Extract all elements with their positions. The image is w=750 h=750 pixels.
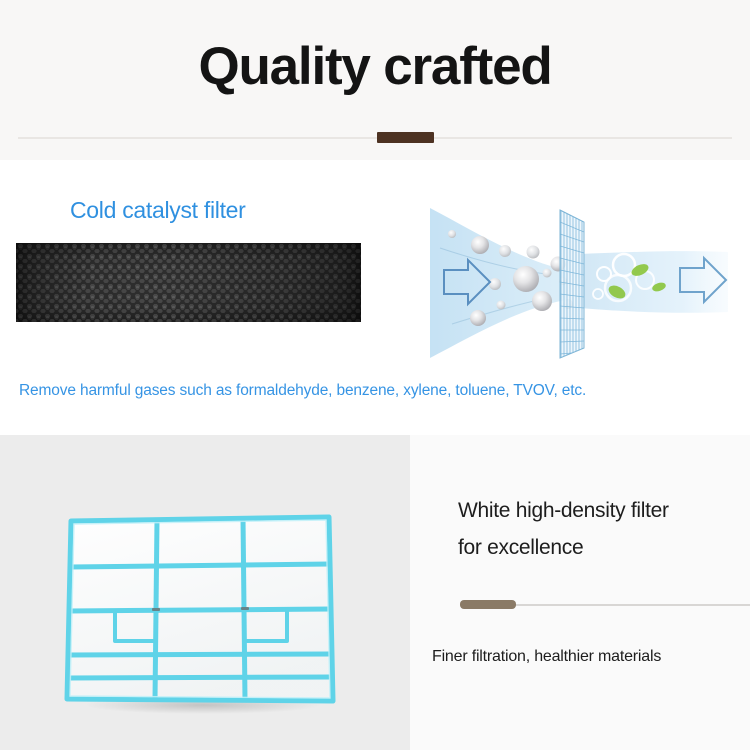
white-filter-heading-line1: White high-density filter [458,492,738,529]
header-divider-line [18,137,732,139]
white-filter-caption: Finer filtration, healthier materials [432,648,661,666]
white-filter-heading: White high-density filter for excellence [458,492,738,566]
cold-catalyst-section: Cold catalyst filter [0,160,750,435]
white-filter-accent-bar [460,600,516,609]
white-filter-text-panel [410,435,750,750]
header-accent-bar [377,132,434,143]
panel-shading-overlay [16,243,361,322]
product-feature-page: Quality crafted Cold catalyst filter [0,0,750,750]
white-filter-heading-line2: for excellence [458,529,738,566]
cold-catalyst-heading: Cold catalyst filter [70,197,246,224]
white-high-density-filter-frame [55,505,345,717]
airflow-filtration-diagram [408,208,738,360]
cold-catalyst-caption: Remove harmful gases such as formaldehyd… [19,382,586,400]
page-title: Quality crafted [0,36,750,97]
honeycomb-carbon-filter-panel [16,243,361,322]
header-banner: Quality crafted [0,0,750,160]
